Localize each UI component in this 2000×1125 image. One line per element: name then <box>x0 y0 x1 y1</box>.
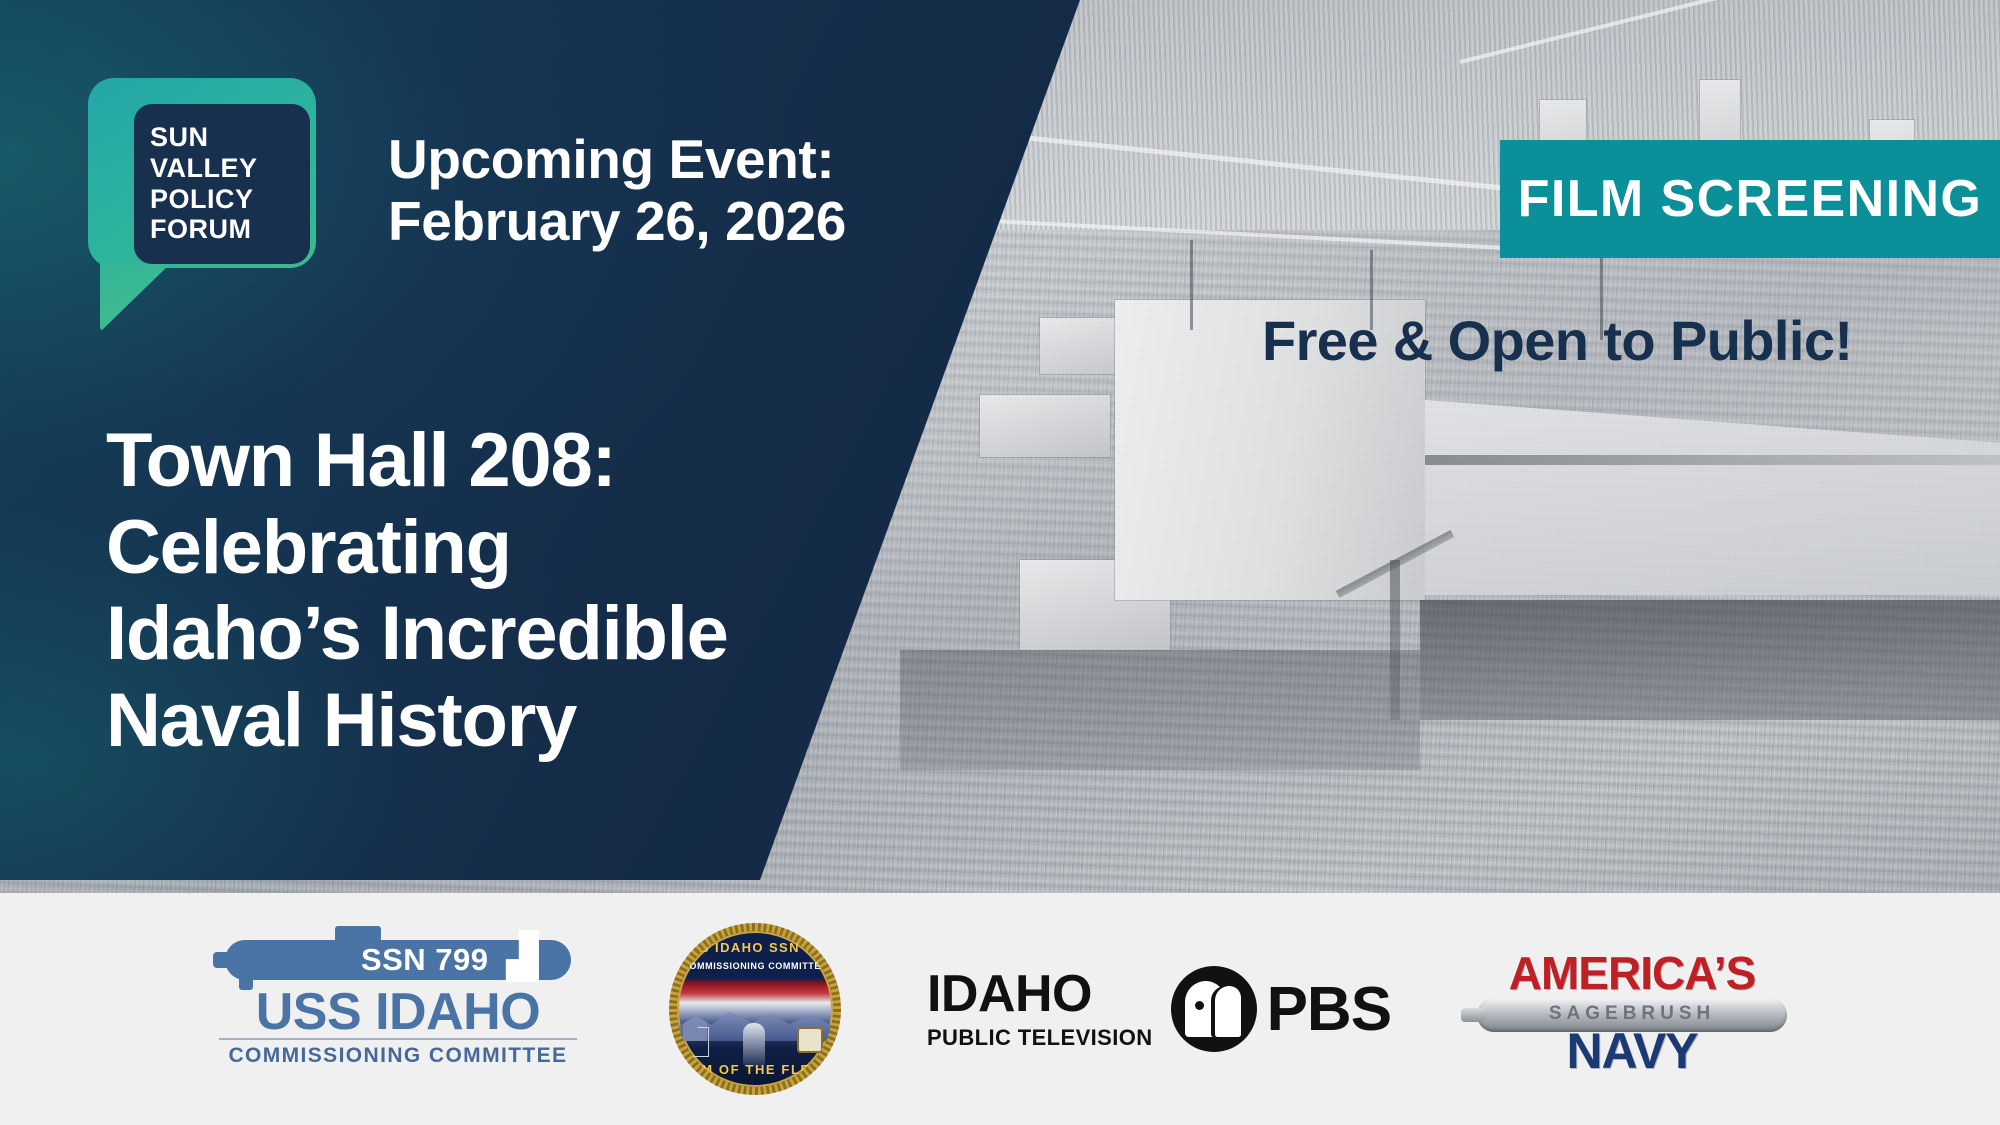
headline-line-2: Celebrating <box>106 505 966 592</box>
free-admission-notice: Free & Open to Public! <box>1262 308 1982 373</box>
uss-idaho-wordmark: USS IDAHO <box>213 982 583 1042</box>
logo-line-2: VALLEY <box>150 154 258 184</box>
hull-number: SSN 799 <box>361 942 489 978</box>
americas-label: AMERICA’S <box>1477 946 1787 1000</box>
uss-idaho-commissioning-committee-logo[interactable]: SSN 799 USS IDAHO COMMISSIONING COMMITTE… <box>213 934 583 1084</box>
logo-navy-plaque: SUN VALLEY POLICY FORUM <box>134 104 310 264</box>
navy-label: NAVY <box>1477 1022 1787 1080</box>
idaho-pbs-logo[interactable]: IDAHO PUBLIC TELEVISION PBS <box>927 949 1391 1069</box>
event-date-block: Upcoming Event: February 26, 2026 <box>388 128 1008 252</box>
seal-bottom-text: GEM OF THE FLEET <box>677 1062 833 1077</box>
pbs-head-icon <box>1171 966 1257 1052</box>
page-title: Town Hall 208: Celebrating Idaho’s Incre… <box>106 418 966 765</box>
sponsor-logo-bar: SSN 799 USS IDAHO COMMISSIONING COMMITTE… <box>0 893 2000 1125</box>
badge-label: FILM SCREENING <box>1518 169 1983 229</box>
seal-face: USS IDAHO SSN 799 COMMISSIONING COMMITTE… <box>677 931 833 1087</box>
film-screening-badge: FILM SCREENING <box>1500 140 2000 258</box>
submarine-sail-icon <box>335 926 381 942</box>
event-date: February 26, 2026 <box>388 190 1008 252</box>
event-label: Upcoming Event: <box>388 128 1008 190</box>
logo-line-1: SUN <box>150 123 209 153</box>
speech-bubble-tail-icon <box>100 264 170 332</box>
seal-submarine-icon <box>743 1023 765 1067</box>
committee-subtitle: COMMISSIONING COMMITTEE <box>213 1044 583 1068</box>
headline-line-4: Naval History <box>106 678 966 765</box>
uss-idaho-seal-logo[interactable]: USS IDAHO SSN 799 COMMISSIONING COMMITTE… <box>669 923 841 1095</box>
americas-sagebrush-navy-logo[interactable]: AMERICA’S SAGEBRUSH NAVY <box>1477 946 1787 1072</box>
idaho-pbs-wordmark: IDAHO PUBLIC TELEVISION <box>927 968 1153 1051</box>
headline-line-1: Town Hall 208: <box>106 418 966 505</box>
event-promo-poster: SUN VALLEY POLICY FORUM Upcoming Event: … <box>0 0 2000 1125</box>
sun-valley-policy-forum-logo[interactable]: SUN VALLEY POLICY FORUM <box>88 78 323 338</box>
divider <box>219 1038 577 1040</box>
public-television-label: PUBLIC TELEVISION <box>927 1025 1153 1051</box>
idaho-label: IDAHO <box>927 968 1092 1020</box>
pbs-mark: PBS <box>1171 966 1391 1052</box>
logo-line-3: POLICY <box>150 185 254 215</box>
seal-crest-icon <box>797 1027 823 1053</box>
headline-line-3: Idaho’s Incredible <box>106 591 966 678</box>
logo-line-4: FORUM <box>150 215 251 245</box>
seal-top-text: USS IDAHO SSN 799 <box>677 940 833 955</box>
pbs-wordmark: PBS <box>1267 974 1391 1045</box>
pbs-head-secondary-icon <box>1215 986 1241 1037</box>
seal-center-text: COMMISSIONING COMMITTEE <box>677 961 833 972</box>
